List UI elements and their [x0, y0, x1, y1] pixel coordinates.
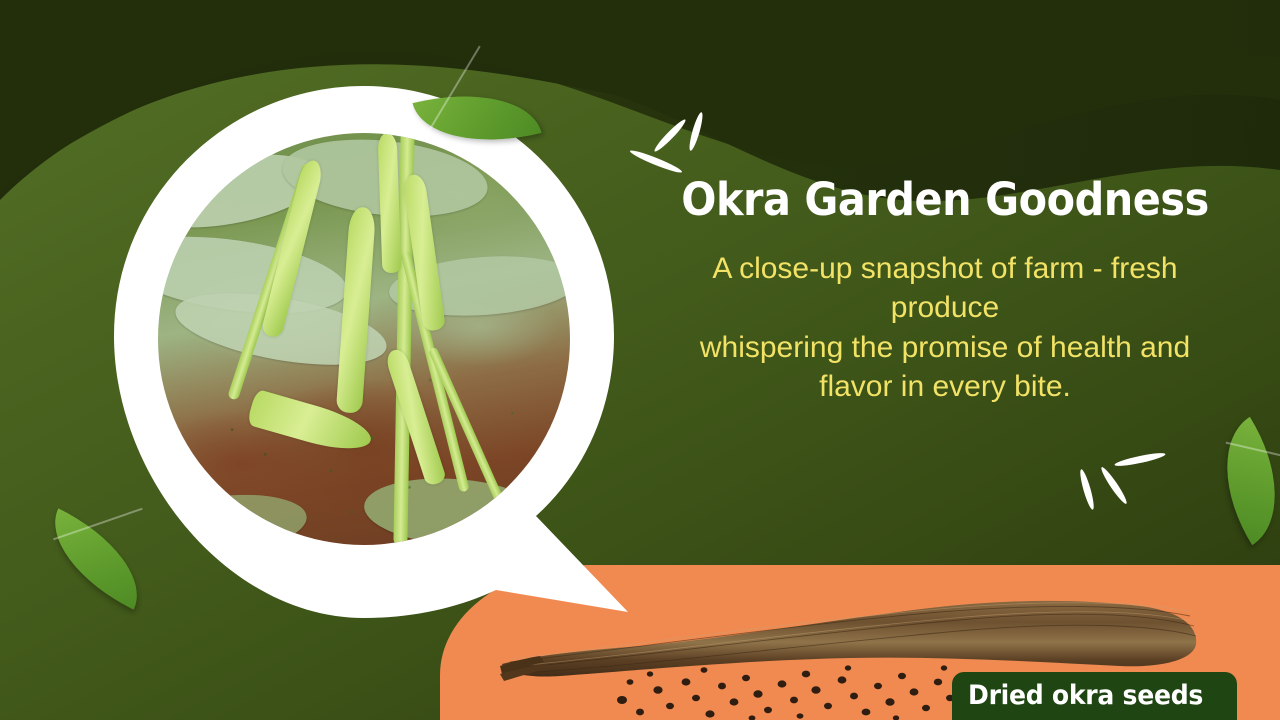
subtitle-line-3: whispering the promise of health and [630, 328, 1260, 368]
subtitle-line-2: produce [630, 288, 1260, 328]
subtitle-block: A close-up snapshot of farm - fresh prod… [630, 249, 1260, 407]
okra-plant-photo [158, 133, 570, 545]
page-title: Okra Garden Goodness [655, 175, 1235, 225]
text-content-column: Okra Garden Goodness A close-up snapshot… [630, 175, 1260, 407]
promo-slide: Okra Garden Goodness A close-up snapshot… [0, 0, 1280, 720]
badge-label: Dried okra seeds [968, 680, 1203, 711]
dried-okra-seeds-scatter [600, 660, 1000, 720]
subtitle-line-4: flavor in every bite. [630, 367, 1260, 407]
dried-okra-seeds-badge: Dried okra seeds [952, 672, 1237, 720]
subtitle-line-1: A close-up snapshot of farm - fresh [630, 249, 1260, 289]
